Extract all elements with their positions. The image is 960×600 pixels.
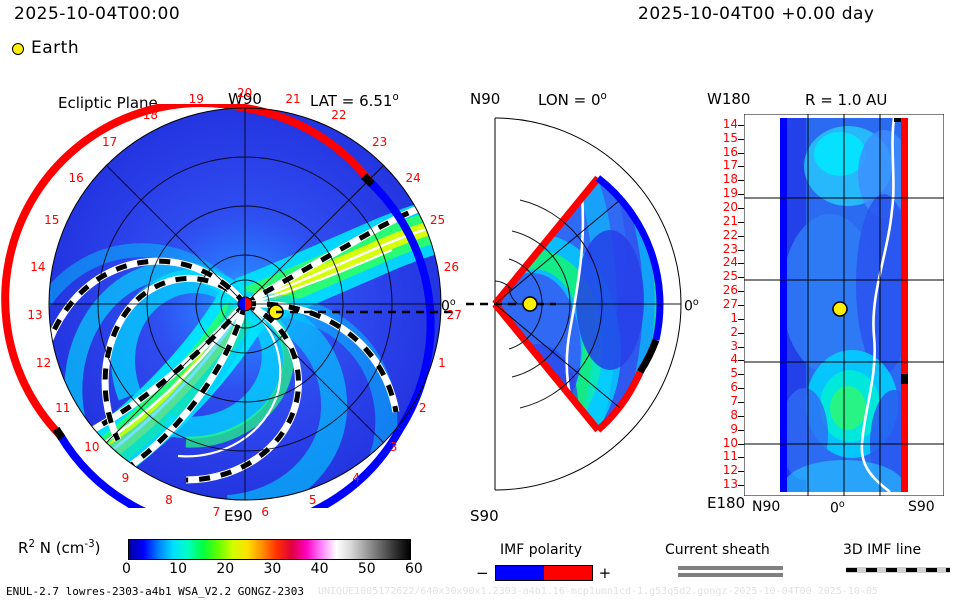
polarity-strip-right-neutral <box>901 374 908 384</box>
radial-y-tick-mark <box>738 388 744 389</box>
radial-y-tick-mark <box>738 153 744 154</box>
ecliptic-rim-number: 23 <box>372 136 387 148</box>
colorbar-tick: 30 <box>264 562 282 576</box>
header-datetime-left: 2025-10-04T00:00 <box>14 6 180 23</box>
radial-top-left-label: W180 <box>707 92 750 107</box>
radial-y-tick: 15 <box>723 132 738 144</box>
radial-y-tick: 25 <box>723 270 738 282</box>
ecliptic-rim-number: 21 <box>285 93 300 105</box>
ecliptic-rim-number: 22 <box>331 109 346 121</box>
colorbar-tick: 20 <box>216 562 234 576</box>
radial-y-tick-mark <box>738 416 744 417</box>
imf-line-sample <box>846 565 950 575</box>
earth-marker-meridional <box>523 297 537 311</box>
ecliptic-rim-number: 3 <box>390 441 398 453</box>
polarity-strip-right-pos2 <box>901 384 908 492</box>
colorbar-tick-labels: 0102030405060 <box>108 562 438 580</box>
radial-density-field <box>780 118 918 496</box>
colorbar-tick: 40 <box>311 562 329 576</box>
radial-y-tick: 7 <box>730 395 738 407</box>
ecliptic-rim-number: 24 <box>405 172 420 184</box>
colorbar-label-r: R <box>18 539 28 557</box>
degree-symbol-icon: o <box>601 91 607 102</box>
radial-y-tick-mark <box>738 430 744 431</box>
ecliptic-bottom-label: E90 <box>224 509 253 524</box>
radial-y-tick-mark <box>738 250 744 251</box>
radial-y-tick-mark <box>738 166 744 167</box>
radial-y-tick-mark <box>738 222 744 223</box>
ecliptic-rim-number: 10 <box>84 441 99 453</box>
colorbar-tick: 60 <box>405 562 423 576</box>
colorbar-label-rest: N (cm <box>40 539 85 557</box>
current-sheath-title: Current sheath <box>665 543 770 557</box>
radial-y-tick-mark <box>738 402 744 403</box>
radial-y-tick-mark <box>738 374 744 375</box>
radial-y-tick: 26 <box>723 284 738 296</box>
footer-watermark: UNIQUE1005172622/640x30x90x1.2303-a4b1.1… <box>318 587 878 597</box>
radial-y-tick: 18 <box>723 173 738 185</box>
radial-y-tick: 19 <box>723 187 738 199</box>
radial-x-tick-value: 0 <box>830 501 839 517</box>
radial-y-tick-mark <box>738 319 744 320</box>
radial-y-tick: 11 <box>723 450 738 462</box>
earth-legend: Earth <box>12 40 79 57</box>
colorbar-label-exp: 2 <box>28 539 34 550</box>
ecliptic-rim-number: 17 <box>102 136 117 148</box>
degree-symbol-icon: o <box>392 92 398 103</box>
radial-panel-title: R = 1.0 AU <box>805 93 887 108</box>
ecliptic-rim-number: 14 <box>30 261 45 273</box>
radial-shell-plot[interactable] <box>744 114 944 496</box>
radial-y-tick-mark <box>738 277 744 278</box>
radial-y-tick-labels: 1415161718192021222324252627123456789101… <box>700 114 744 496</box>
ecliptic-rim-number: 26 <box>444 261 459 273</box>
ecliptic-rim-number: 12 <box>36 357 51 369</box>
earth-legend-label: Earth <box>31 40 79 57</box>
ecliptic-rim-number: 20 <box>237 87 252 99</box>
radial-x-tick: 0o <box>830 500 845 516</box>
imf-polarity-title: IMF polarity <box>500 543 582 557</box>
ecliptic-rim-number: 4 <box>352 472 360 484</box>
radial-y-tick-mark <box>738 457 744 458</box>
colorbar-tick: 50 <box>358 562 376 576</box>
ecliptic-rim-number: 2 <box>419 402 427 414</box>
radial-y-tick-mark <box>738 236 744 237</box>
radial-y-tick: 16 <box>723 146 738 158</box>
radial-y-tick: 27 <box>723 298 738 310</box>
ecliptic-rim-number: 25 <box>430 214 445 226</box>
radial-y-tick: 10 <box>723 437 738 449</box>
radial-y-tick-mark <box>738 305 744 306</box>
radial-y-tick: 24 <box>723 256 738 268</box>
radial-y-tick: 23 <box>723 243 738 255</box>
radial-y-tick: 4 <box>730 353 738 365</box>
ecliptic-rim-number: 9 <box>122 472 130 484</box>
meridional-bottom-label: S90 <box>470 509 499 524</box>
radial-y-tick-mark <box>738 139 744 140</box>
imf-line-title: 3D IMF line <box>843 543 921 557</box>
radial-y-tick-mark <box>738 263 744 264</box>
header-datetime-right: 2025-10-04T00 +0.00 day <box>638 6 874 23</box>
radial-y-tick-mark <box>738 444 744 445</box>
radial-x-tick: N90 <box>752 500 780 514</box>
radial-y-tick-mark <box>738 347 744 348</box>
ecliptic-rim-number: 16 <box>69 172 84 184</box>
meridional-left-axis-label: 0o <box>441 298 456 314</box>
radial-y-tick: 21 <box>723 215 738 227</box>
colorbar-gradient <box>128 539 411 560</box>
colorbar-tick: 10 <box>169 562 187 576</box>
polarity-strip-right-pos <box>901 118 908 374</box>
earth-marker-icon <box>12 43 24 55</box>
colorbar-tick: 0 <box>122 562 131 576</box>
degree-symbol-icon: o <box>450 297 456 308</box>
radial-y-tick: 17 <box>723 159 738 171</box>
ecliptic-rim-number: 15 <box>44 214 59 226</box>
ecliptic-rim-number: 18 <box>143 109 158 121</box>
current-sheath-sample <box>678 566 783 577</box>
imf-polarity-legend: − + <box>476 565 611 581</box>
degree-symbol-icon: o <box>839 499 845 510</box>
degree-symbol-icon: o <box>693 297 699 308</box>
ecliptic-rim-number: 19 <box>189 93 204 105</box>
radial-y-tick-mark <box>738 208 744 209</box>
radial-y-tick-mark <box>738 333 744 334</box>
radial-x-tick: S90 <box>908 500 935 514</box>
polarity-color-bar <box>495 565 593 581</box>
radial-bottom-left-label: E180 <box>707 496 745 511</box>
colorbar-label-unit-exp: -3 <box>84 539 94 550</box>
polarity-strip-left <box>780 118 787 492</box>
colorbar-label: R2 N (cm-3) <box>18 540 100 556</box>
ecliptic-rim-number: 8 <box>165 494 173 506</box>
radial-y-tick: 1 <box>730 312 738 324</box>
ecliptic-rim-number: 7 <box>213 506 221 518</box>
radial-y-tick: 8 <box>730 409 738 421</box>
radial-y-tick: 6 <box>730 381 738 393</box>
radial-y-tick: 22 <box>723 229 738 241</box>
radial-y-tick: 20 <box>723 201 738 213</box>
polarity-plus-label: + <box>599 566 612 581</box>
polarity-minus-label: − <box>476 566 489 581</box>
radial-y-tick: 12 <box>723 464 738 476</box>
ecliptic-rim-number: 13 <box>27 309 42 321</box>
radial-y-tick-mark <box>738 471 744 472</box>
radial-y-tick: 3 <box>730 340 738 352</box>
radial-y-tick-mark <box>738 180 744 181</box>
footer-model-info: ENUL-2.7 lowres-2303-a4b1 WSA_V2.2 GONGZ… <box>6 586 304 597</box>
radial-y-tick-mark <box>738 125 744 126</box>
radial-y-tick-mark <box>738 360 744 361</box>
earth-marker-radial <box>833 302 847 316</box>
ecliptic-rim-numbers: 1234567891011121314151617181920212223242… <box>0 104 460 508</box>
radial-y-tick: 9 <box>730 423 738 435</box>
radial-y-tick: 5 <box>730 367 738 379</box>
ecliptic-rim-number: 5 <box>309 494 317 506</box>
colorbar-label-close: ) <box>95 539 101 557</box>
ecliptic-rim-number: 1 <box>438 357 446 369</box>
ecliptic-rim-number: 11 <box>55 402 70 414</box>
radial-x-tick-labels: N900oS90 <box>744 500 944 520</box>
radial-y-tick-mark <box>738 194 744 195</box>
radial-y-tick: 14 <box>723 118 738 130</box>
meridional-slice-plot[interactable] <box>460 104 690 508</box>
radial-y-tick-mark <box>738 291 744 292</box>
ecliptic-rim-number: 6 <box>261 506 269 518</box>
radial-y-tick-mark <box>738 485 744 486</box>
radial-y-tick: 2 <box>730 326 738 338</box>
radial-y-tick: 13 <box>723 478 738 490</box>
meridional-left-axis-value: 0 <box>441 299 450 315</box>
